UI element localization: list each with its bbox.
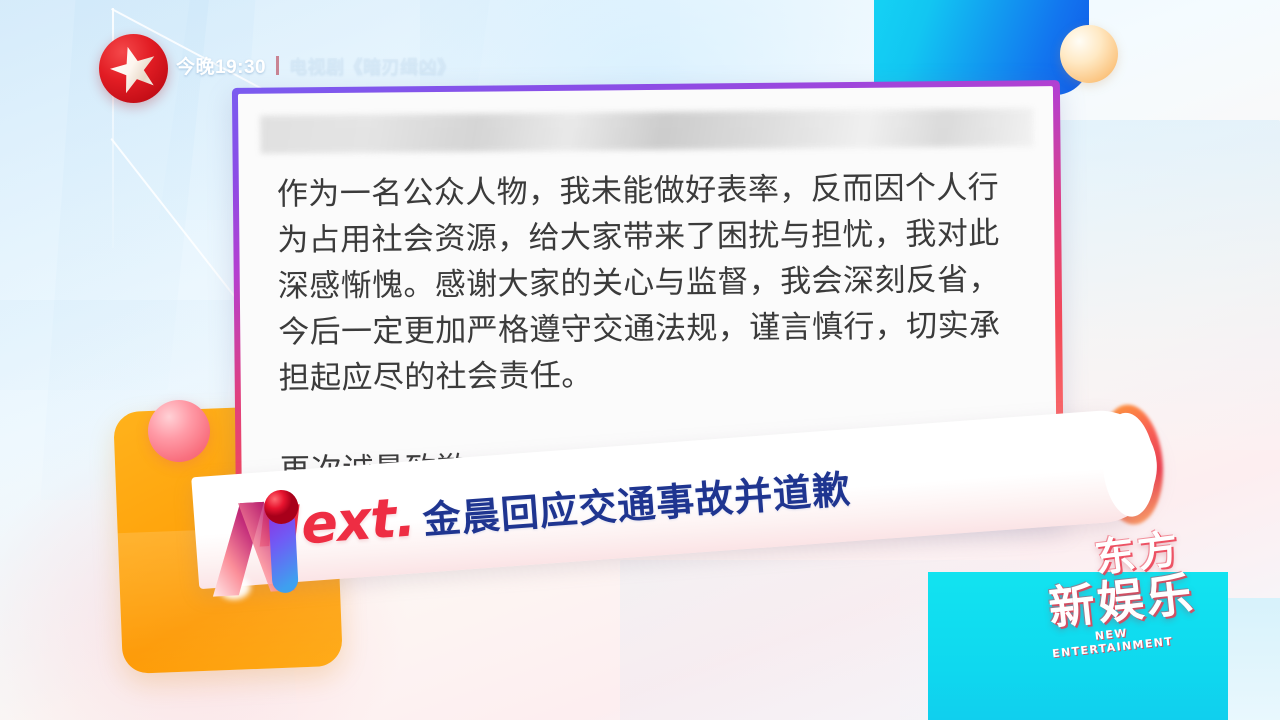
promo-time: 今晚19:30 <box>176 52 266 79</box>
decor-cyan-block-edge <box>1228 598 1280 720</box>
program-promo-bar: 今晚19:30 电视剧《暗刃缉凶》 <box>176 52 456 79</box>
promo-program-title: 电视剧《暗刃缉凶》 <box>289 53 456 79</box>
statement-paragraph-1: 作为一名公众人物，我未能做好表率，反而因个人行为占用社会资源，给大家带来了困扰与… <box>277 165 1010 402</box>
background-panel-7 <box>1040 120 1280 450</box>
redacted-header-bar <box>260 108 1033 153</box>
star-shape <box>104 39 163 98</box>
next-n-mark-icon <box>193 471 332 610</box>
dragon-tv-star-icon <box>99 34 168 103</box>
promo-divider-icon <box>276 56 279 75</box>
decor-pink-sphere <box>148 400 210 462</box>
banner-headline: 金晨回应交通事故并道歉 <box>421 458 853 544</box>
decor-cream-sphere <box>1060 25 1118 83</box>
broadcast-screen: 今晚19:30 电视剧《暗刃缉凶》 作为一名公众人物，我未能做好表率，反而因个人… <box>0 0 1280 720</box>
show-logo: 东方 新娱乐 NEW ENTERTAINMENT <box>1022 536 1222 686</box>
